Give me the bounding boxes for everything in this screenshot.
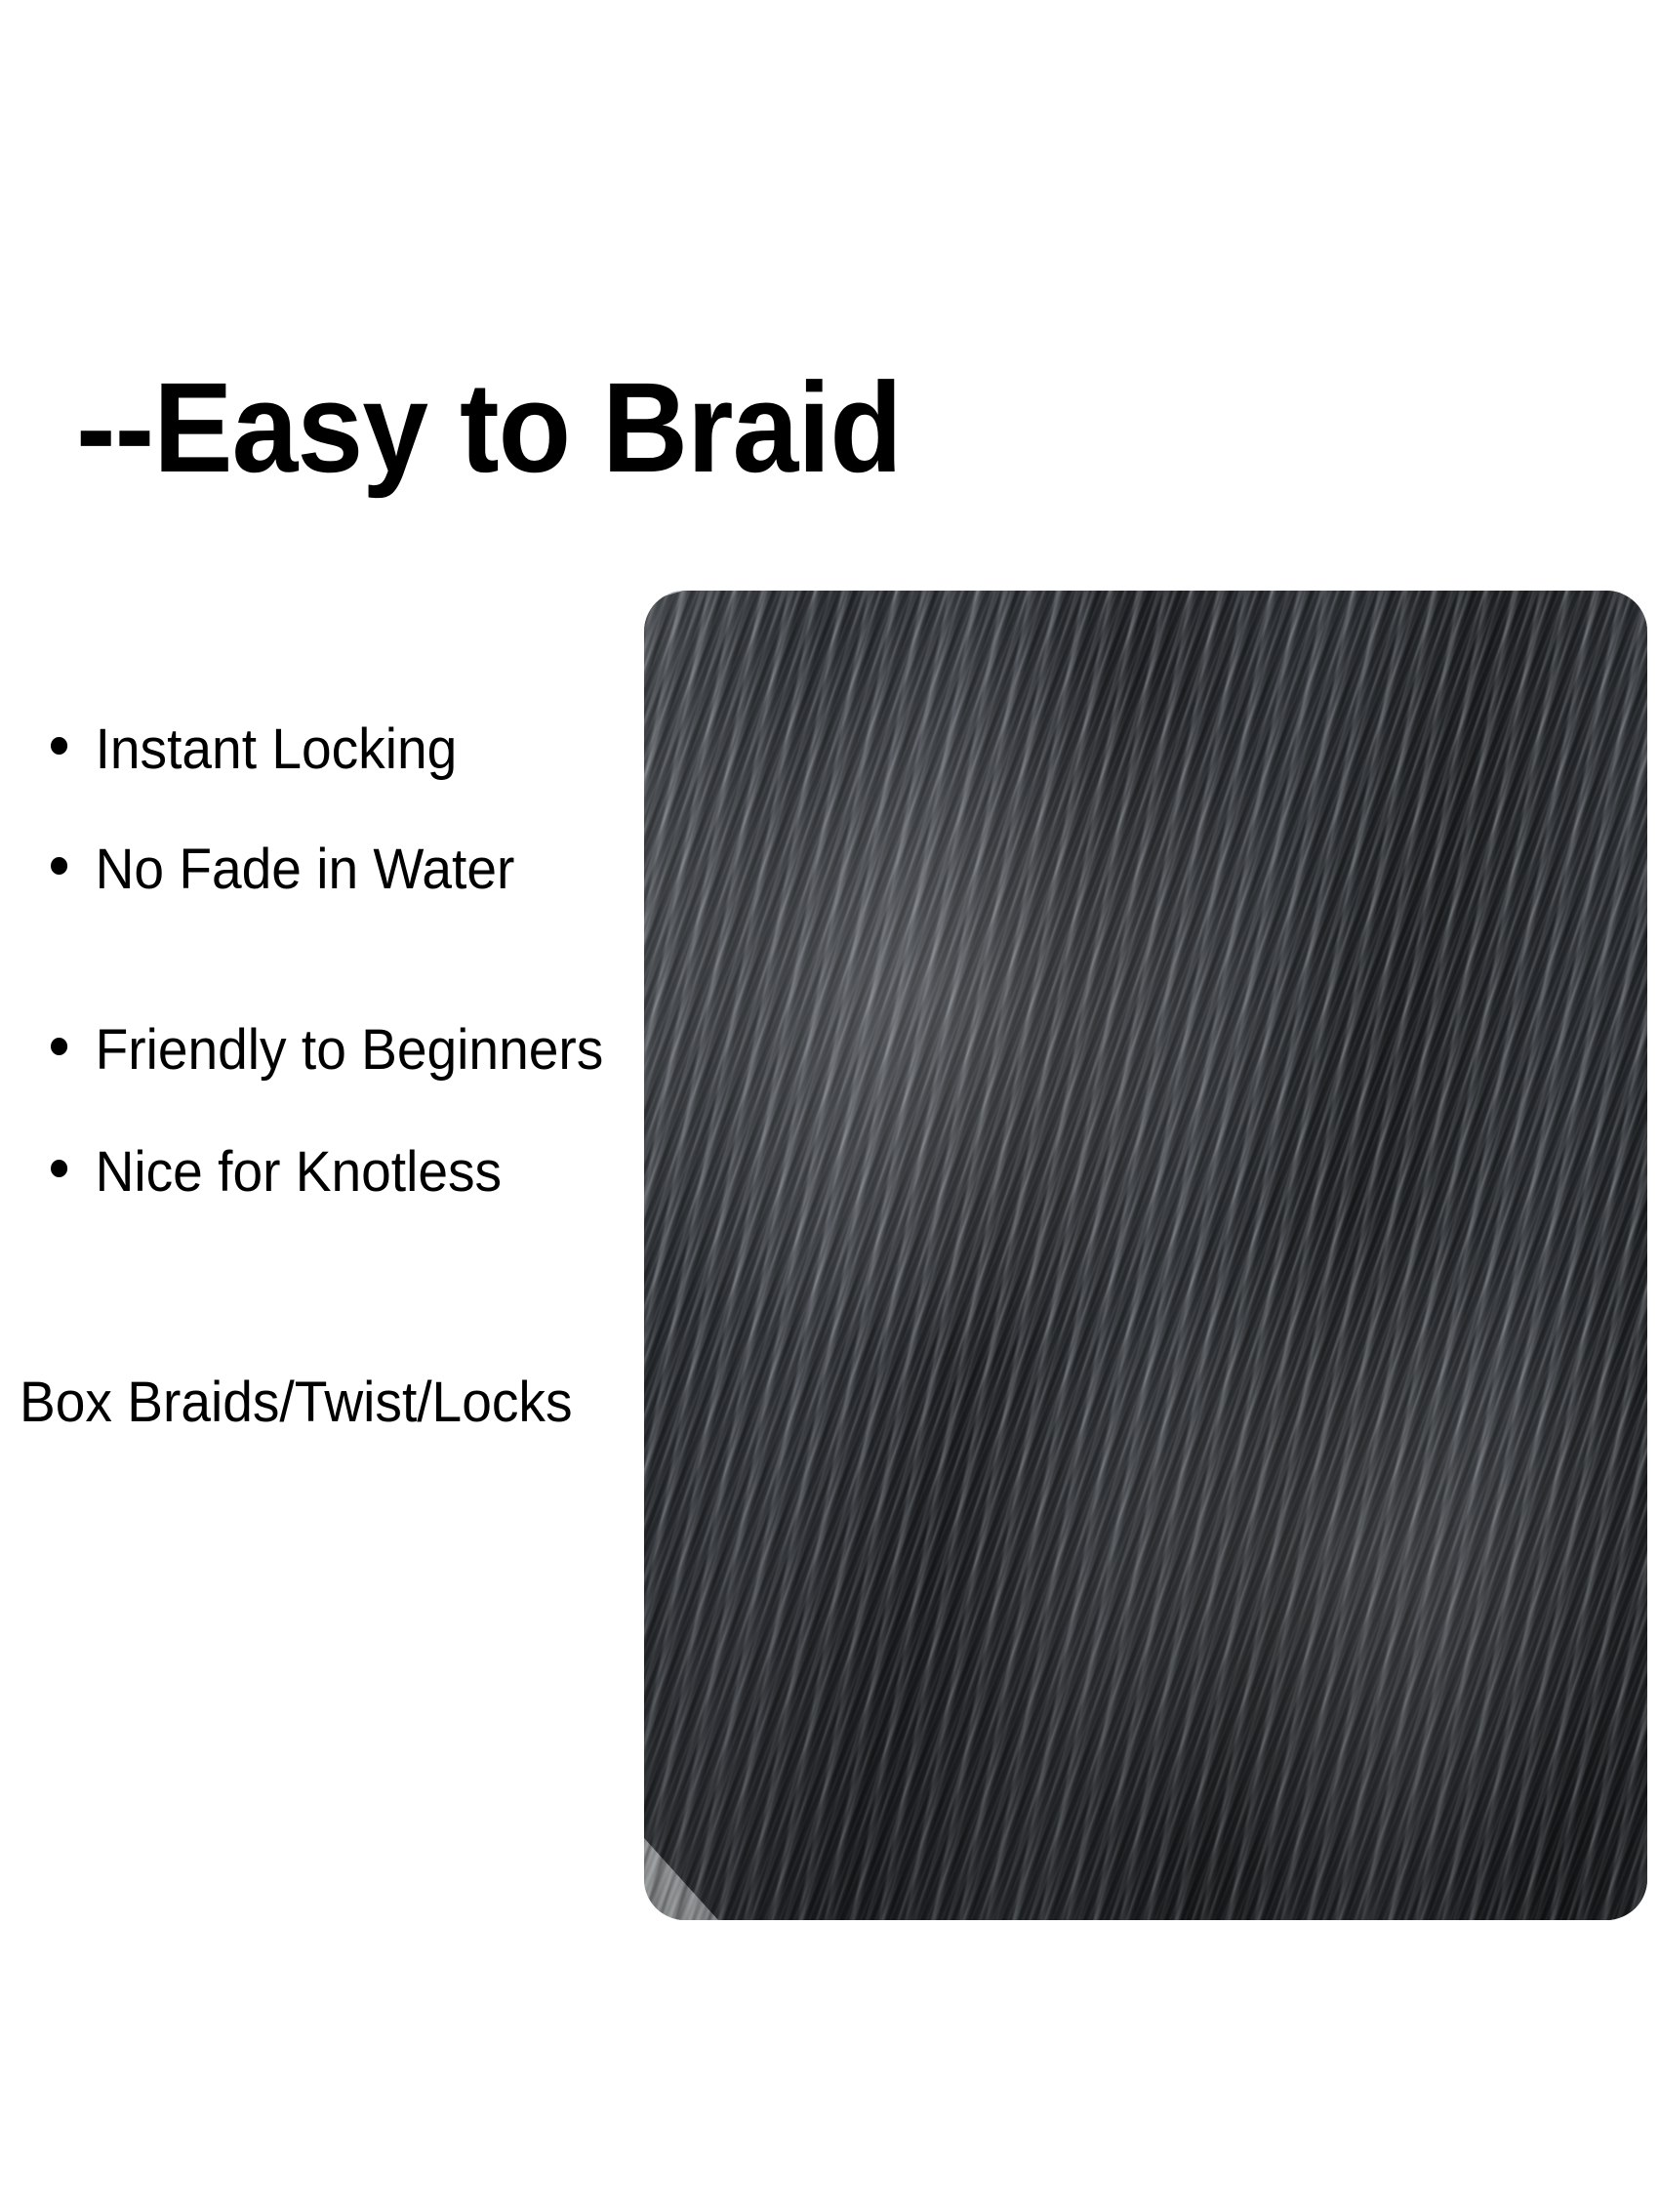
feature-label: No Fade in Water bbox=[96, 841, 515, 898]
feature-label: Instant Locking bbox=[96, 721, 458, 778]
tagline-text: Box Braids/Twist/Locks bbox=[20, 1374, 572, 1431]
feature-label: Nice for Knotless bbox=[96, 1144, 502, 1201]
list-item: Nice for Knotless bbox=[51, 1144, 502, 1201]
list-item: No Fade in Water bbox=[51, 841, 514, 898]
text-layer: --Easy to Braid Instant Locking No Fade … bbox=[0, 0, 1659, 2212]
list-item: Friendly to Beginners bbox=[51, 1022, 603, 1079]
bullet-dot-icon bbox=[51, 1160, 67, 1177]
page-title: --Easy to Braid bbox=[76, 363, 902, 491]
list-item: Instant Locking bbox=[51, 721, 457, 778]
bullet-dot-icon bbox=[51, 1038, 67, 1055]
product-feature-poster: --Easy to Braid Instant Locking No Fade … bbox=[0, 0, 1659, 2212]
bullet-dot-icon bbox=[51, 737, 67, 755]
feature-label: Friendly to Beginners bbox=[96, 1022, 604, 1079]
bullet-dot-icon bbox=[51, 857, 67, 875]
